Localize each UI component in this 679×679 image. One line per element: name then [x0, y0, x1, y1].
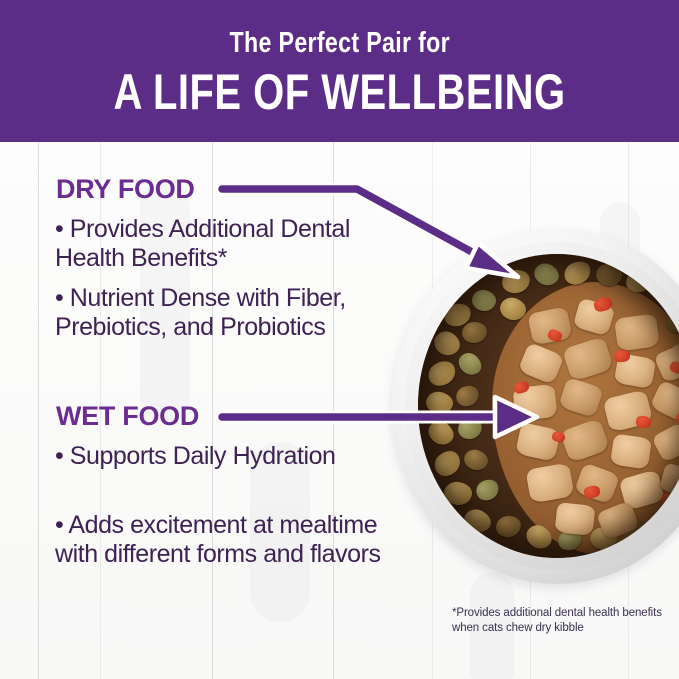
wet-food-heading: WET FOOD: [56, 401, 199, 432]
dry-food-bullet-1: • Provides Additional Dental Health Bene…: [55, 215, 385, 273]
banner-line-1: The Perfect Pair for: [229, 29, 449, 58]
dry-food-bullet-2: • Nutrient Dense with Fiber, Prebiotics,…: [55, 284, 385, 342]
header-banner: The Perfect Pair for A LIFE OF WELLBEING: [0, 0, 679, 142]
pet-food-bowl-image: [392, 228, 679, 584]
bowl-food-area: [418, 254, 679, 558]
footnote-text: *Provides additional dental health benef…: [452, 606, 677, 636]
promo-graphic: The Perfect Pair for A LIFE OF WELLBEING: [0, 0, 679, 679]
copy-column: DRY FOOD • Provides Additional Dental He…: [0, 142, 400, 679]
banner-line-2: A LIFE OF WELLBEING: [113, 67, 565, 117]
dry-food-heading: DRY FOOD: [56, 174, 195, 205]
wet-food-bullet-1: • Supports Daily Hydration: [55, 442, 385, 471]
wet-food-bullet-2: • Adds excitement at mealtime with diffe…: [55, 511, 385, 569]
